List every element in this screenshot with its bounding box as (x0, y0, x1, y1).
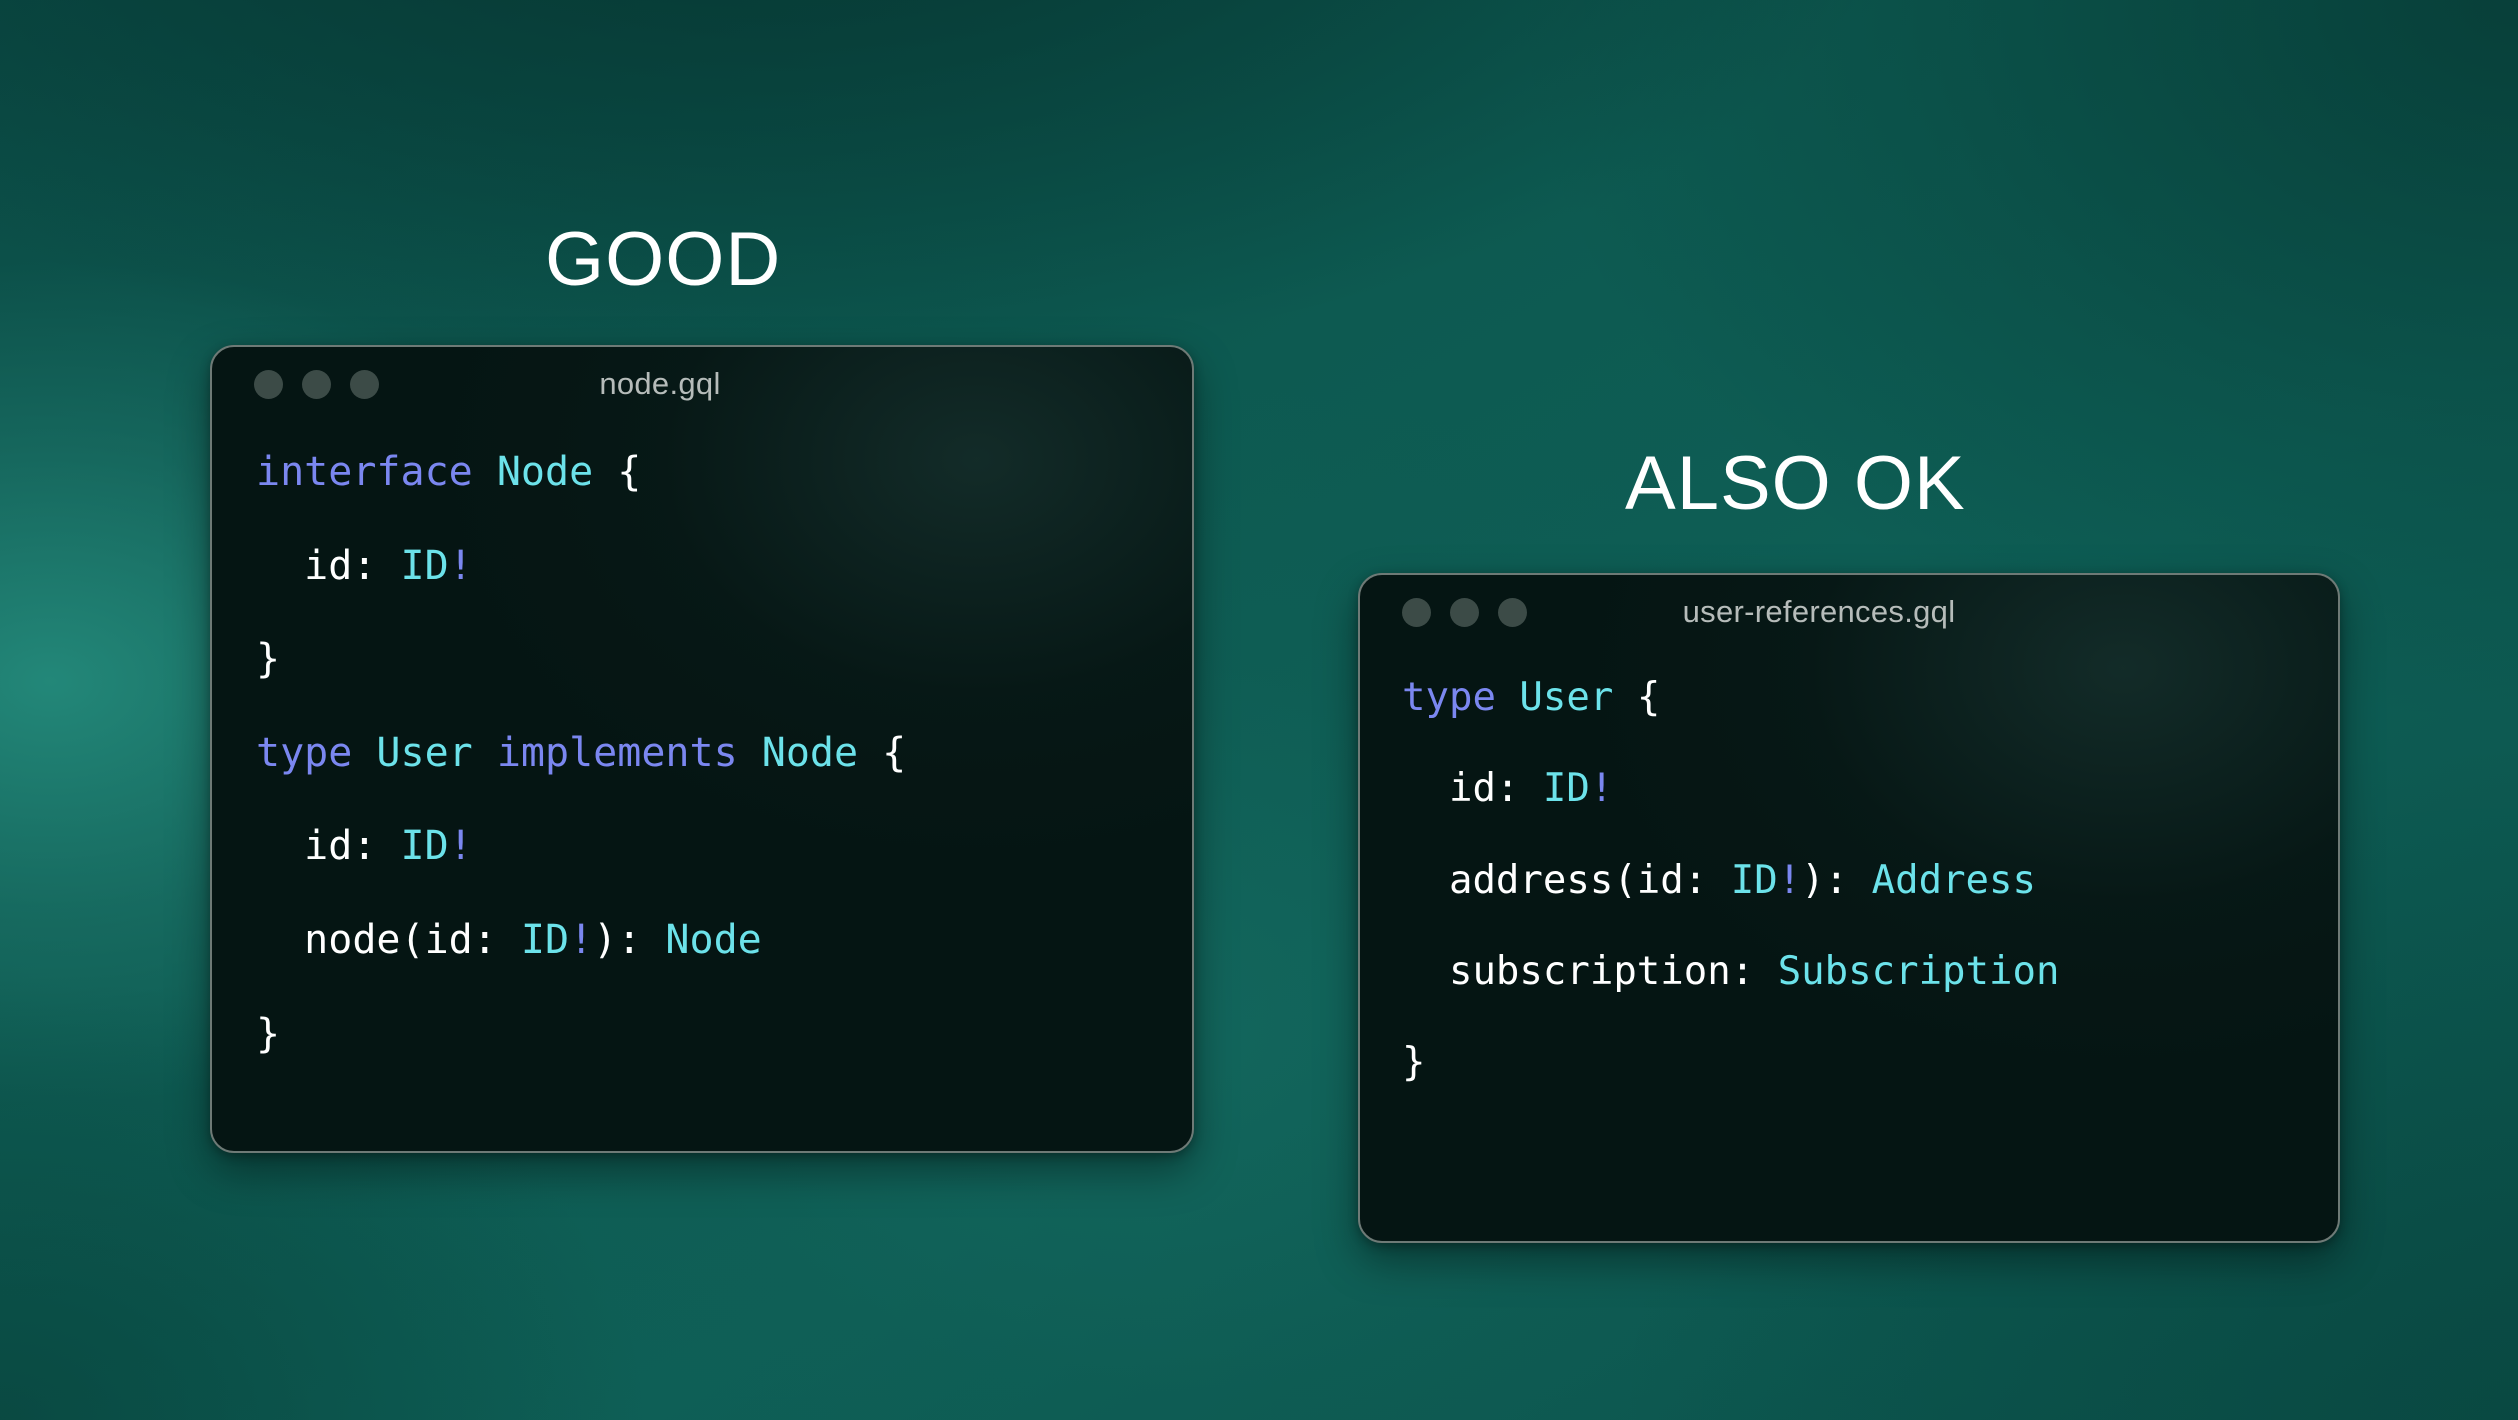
traffic-dot-maximize-icon[interactable] (1498, 598, 1527, 627)
code-line: node(id: ID!): Node (256, 917, 1192, 964)
code-token-type: ID (401, 823, 449, 869)
code-token-plain: id: (256, 543, 401, 589)
code-token-type: User (376, 730, 496, 776)
code-token-plain: } (256, 636, 280, 682)
code-token-type: Node (665, 917, 761, 963)
code-token-type: Node (762, 730, 882, 776)
traffic-lights (1402, 598, 1527, 627)
code-token-type: Subscription (1778, 949, 2060, 994)
code-line: subscription: Subscription (1402, 949, 2338, 995)
code-line: type User implements Node { (256, 730, 1192, 777)
code-line: } (1402, 1040, 2338, 1086)
traffic-dot-close-icon[interactable] (1402, 598, 1431, 627)
code-line: } (256, 1011, 1192, 1058)
code-line: id: ID! (1402, 766, 2338, 812)
code-token-plain: id: (256, 823, 401, 869)
code-line: id: ID! (256, 823, 1192, 870)
code-block: type User { id: ID! address(id: ID!): Ad… (1360, 649, 2338, 1131)
slide-canvas: GOOD ALSO OK node.gql interface Node { i… (0, 0, 2518, 1420)
code-token-kw: ! (449, 543, 473, 589)
code-token-kw: ! (1590, 766, 1613, 811)
code-token-plain: { (617, 449, 641, 495)
code-token-kw: ! (569, 917, 593, 963)
code-token-kw: type (1402, 675, 1519, 720)
code-token-kw: type (256, 730, 376, 776)
traffic-dot-minimize-icon[interactable] (302, 370, 331, 399)
code-token-type: ID (401, 543, 449, 589)
traffic-dot-minimize-icon[interactable] (1450, 598, 1479, 627)
traffic-lights (254, 370, 379, 399)
code-token-kw: ! (449, 823, 473, 869)
code-token-kw: interface (256, 449, 497, 495)
code-token-plain: id: (1402, 766, 1543, 811)
code-token-type: Node (497, 449, 617, 495)
code-token-type: ID (1543, 766, 1590, 811)
code-window-user-references-gql: user-references.gql type User { id: ID! … (1358, 573, 2340, 1243)
code-token-type: Address (1872, 858, 2036, 903)
code-token-plain: ): (593, 917, 665, 963)
window-titlebar: node.gql (212, 347, 1192, 421)
heading-good: GOOD (545, 222, 781, 298)
code-token-plain: ): (1801, 858, 1871, 903)
traffic-dot-maximize-icon[interactable] (350, 370, 379, 399)
code-token-plain: } (1402, 1040, 1425, 1085)
code-token-plain: address(id: (1402, 858, 1731, 903)
code-token-type: ID (1731, 858, 1778, 903)
code-line: id: ID! (256, 543, 1192, 590)
code-token-type: ID (521, 917, 569, 963)
code-window-node-gql: node.gql interface Node { id: ID! } type… (210, 345, 1194, 1153)
code-token-plain: subscription: (1402, 949, 1778, 994)
code-token-kw: implements (497, 730, 762, 776)
code-token-plain: node(id: (256, 917, 521, 963)
code-line: interface Node { (256, 449, 1192, 496)
traffic-dot-close-icon[interactable] (254, 370, 283, 399)
heading-also-ok: ALSO OK (1625, 446, 1966, 522)
code-line: address(id: ID!): Address (1402, 858, 2338, 904)
code-token-plain: { (882, 730, 906, 776)
code-line: type User { (1402, 675, 2338, 721)
code-token-plain: { (1637, 675, 1660, 720)
code-token-type: User (1519, 675, 1636, 720)
code-line: } (256, 636, 1192, 683)
code-token-plain: } (256, 1011, 280, 1057)
window-titlebar: user-references.gql (1360, 575, 2338, 649)
code-token-kw: ! (1778, 858, 1801, 903)
code-block: interface Node { id: ID! } type User imp… (212, 421, 1192, 1104)
